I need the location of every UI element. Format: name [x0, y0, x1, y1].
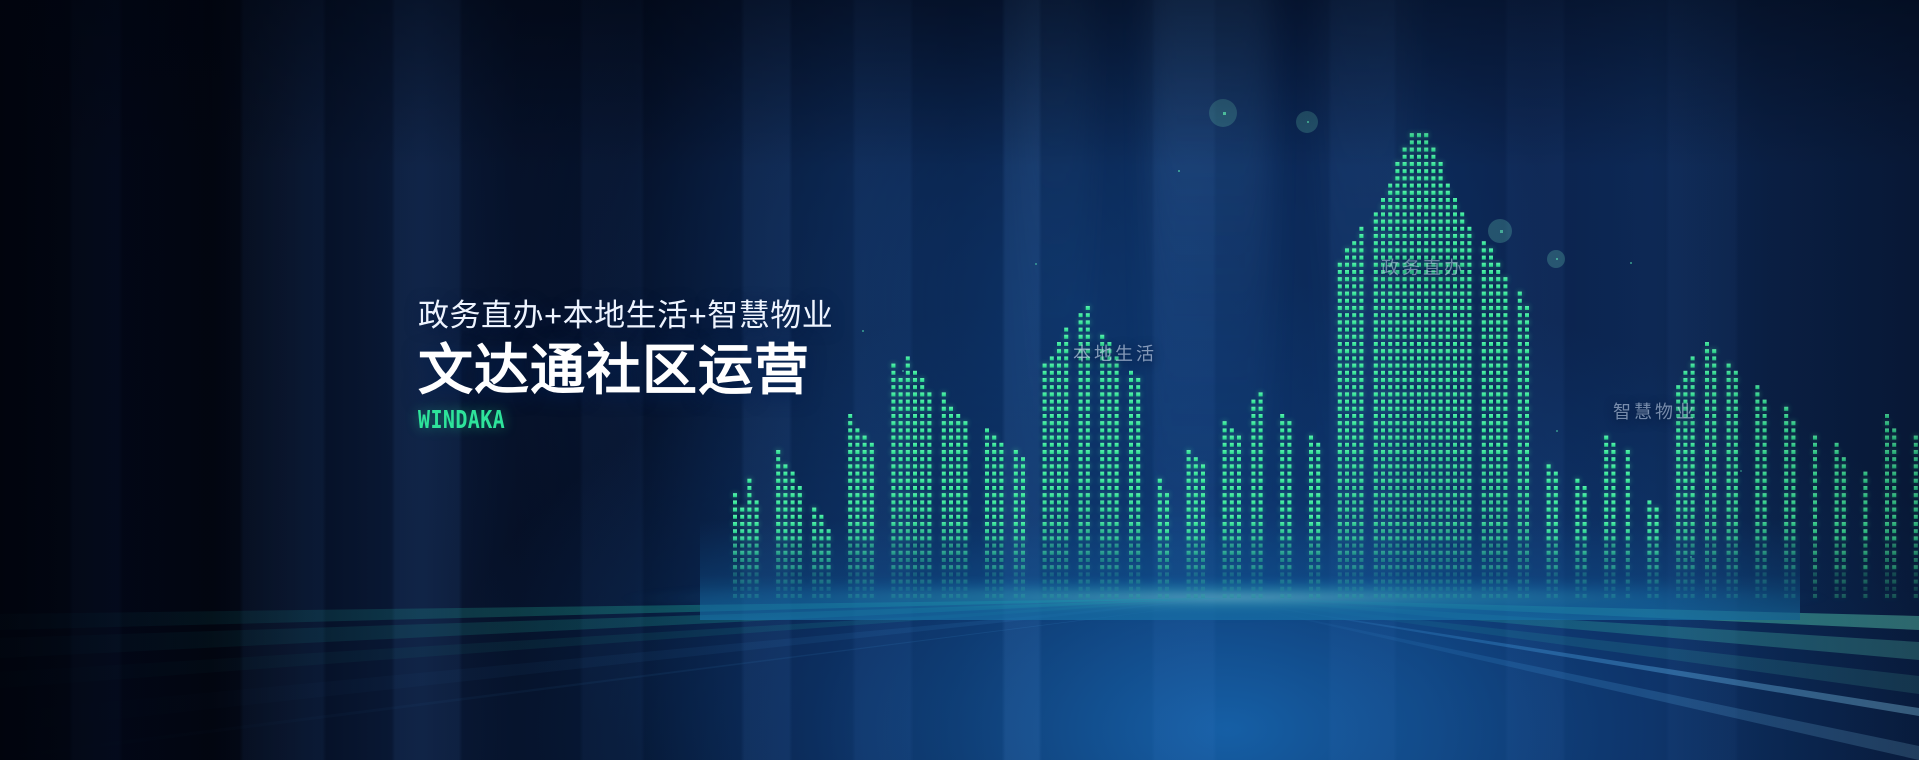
- banner-headline: 文达通社区运营: [418, 339, 938, 401]
- copy-block: 政务直办+本地生活+智慧物业 文达通社区运营 WINDAKA: [418, 296, 938, 435]
- banner-subtitle: 政务直办+本地生活+智慧物业: [418, 296, 938, 336]
- particle-sparkles: [0, 0, 1919, 760]
- zone-label-gov-service: 政务直办: [1381, 254, 1465, 280]
- zone-label-local-life: 本地生活: [1073, 340, 1157, 366]
- brand-wordmark: WINDAKA: [418, 405, 834, 435]
- hero-banner: 本地生活 政务直办 智慧物业 政务直办+本地生活+智慧物业 文达通社区运营 WI…: [0, 0, 1919, 760]
- zone-label-smart-property: 智慧物业: [1613, 398, 1697, 424]
